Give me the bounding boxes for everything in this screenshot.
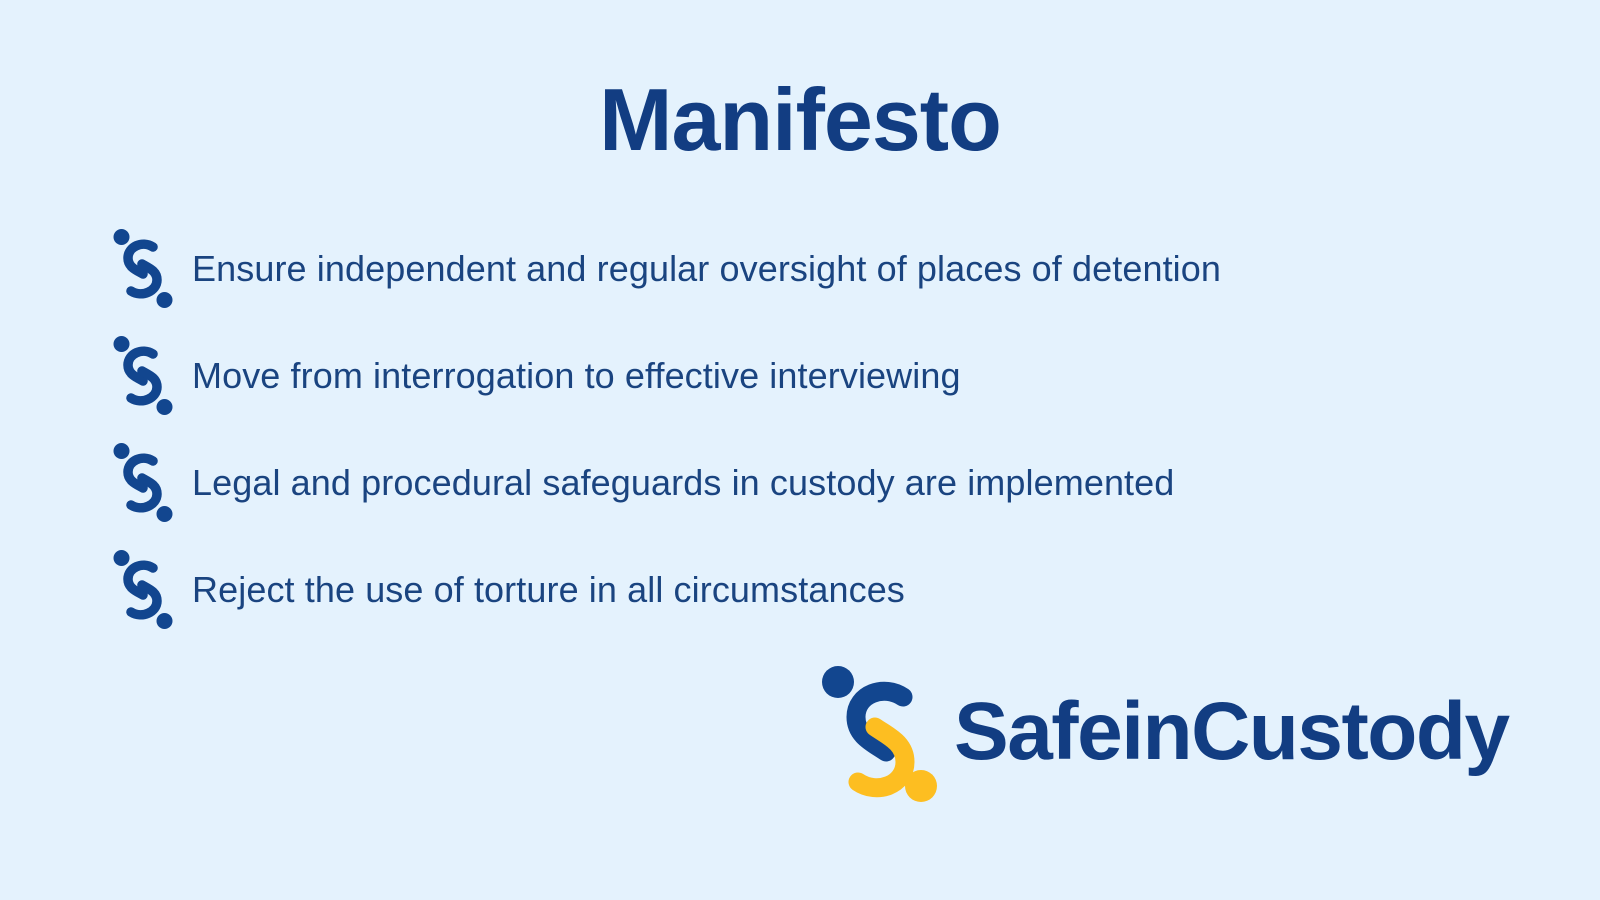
brand-lockup: SafeinCustody <box>818 660 1509 804</box>
list-item: Ensure independent and regular oversight… <box>112 222 1532 314</box>
safeincustody-mark-icon <box>112 549 174 629</box>
manifesto-item-text: Move from interrogation to effective int… <box>192 353 961 398</box>
manifesto-item-text: Legal and procedural safeguards in custo… <box>192 460 1174 505</box>
safeincustody-mark-icon <box>112 442 174 522</box>
safeincustody-mark-icon <box>112 335 174 415</box>
manifesto-slide: Manifesto Ensure independent and regular… <box>0 0 1600 900</box>
manifesto-list: Ensure independent and regular oversight… <box>112 222 1532 650</box>
manifesto-item-text: Ensure independent and regular oversight… <box>192 246 1221 291</box>
list-item: Move from interrogation to effective int… <box>112 329 1532 421</box>
safeincustody-logo-icon <box>818 660 940 804</box>
brand-wordmark: SafeinCustody <box>954 691 1509 773</box>
list-item: Legal and procedural safeguards in custo… <box>112 436 1532 528</box>
safeincustody-mark-icon <box>112 228 174 308</box>
manifesto-item-text: Reject the use of torture in all circums… <box>192 567 905 612</box>
page-title: Manifesto <box>0 74 1600 166</box>
list-item: Reject the use of torture in all circums… <box>112 543 1532 635</box>
